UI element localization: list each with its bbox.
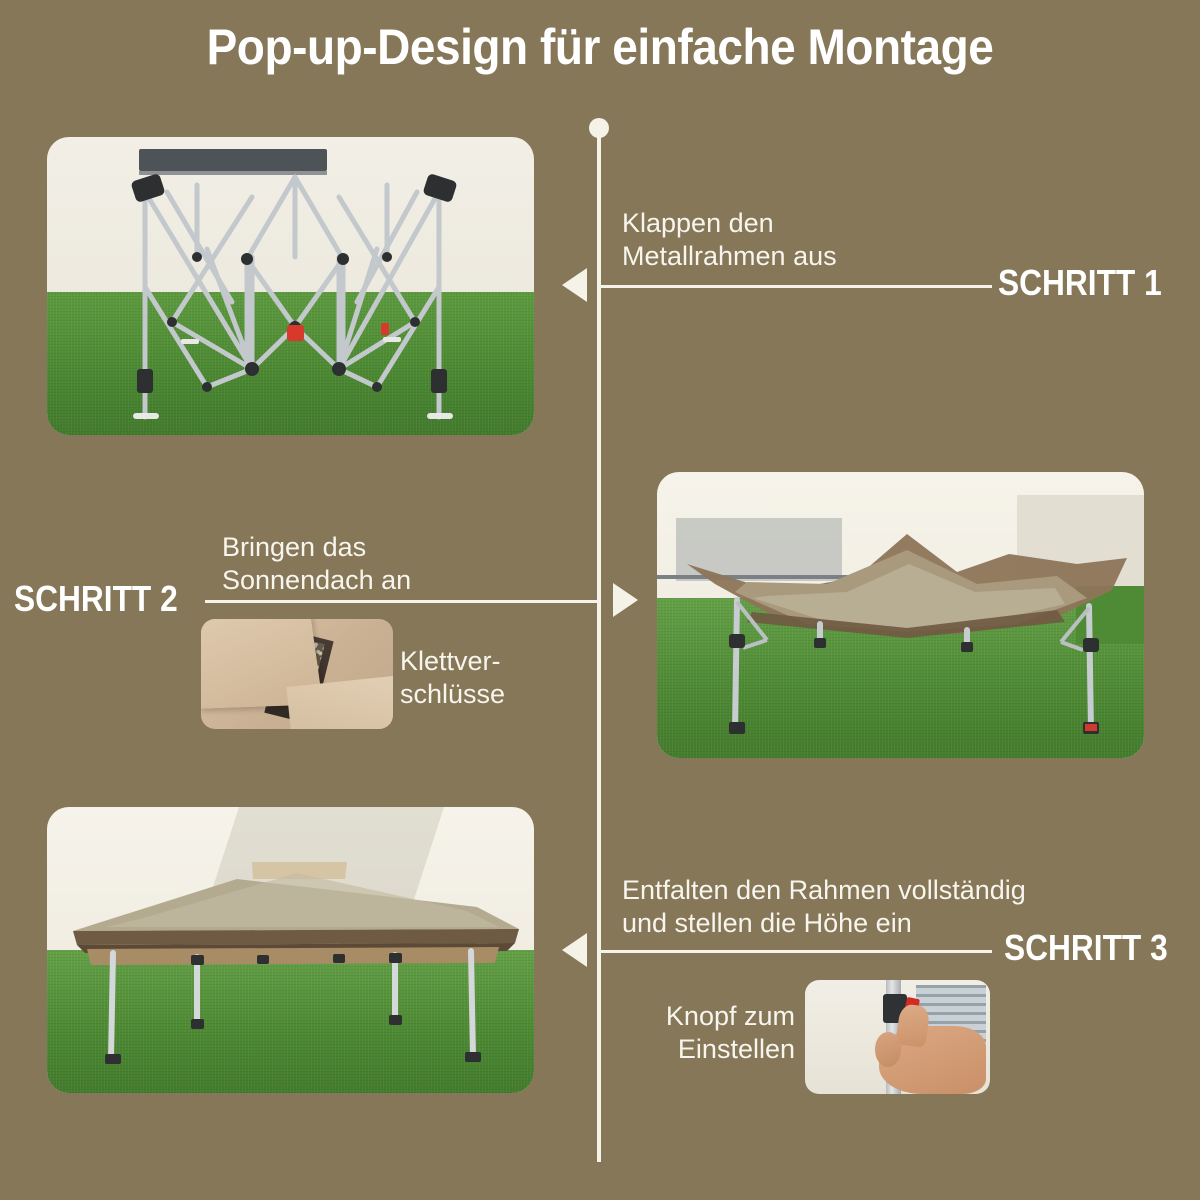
- velcro-closeup-photo: [201, 619, 393, 729]
- button-callout-label: Knopf zum Einstellen: [650, 1000, 795, 1066]
- step-3-label: SCHRITT 3: [1004, 927, 1168, 969]
- adjustment-button-closeup-photo: [805, 980, 990, 1094]
- step-2-description: Bringen das Sonnendach an: [222, 531, 411, 597]
- step-2-photo: [657, 472, 1144, 758]
- folded-frame-illustration: [47, 137, 534, 435]
- step-1-photo: [47, 137, 534, 435]
- arrow-right-icon: [613, 583, 638, 617]
- assembled-gazebo-illustration: [47, 807, 534, 1093]
- step-1-connector-line: [600, 285, 992, 288]
- step-1-description: Klappen den Metallrahmen aus: [622, 207, 837, 273]
- page-title: Pop-up-Design für einfache Montage: [48, 18, 1152, 76]
- step-3-description: Entfalten den Rahmen vollständig und ste…: [622, 874, 1026, 940]
- thumb: [875, 1032, 901, 1066]
- arrow-left-icon: [562, 933, 587, 967]
- velcro-callout-label: Klettver- schlüsse: [400, 645, 505, 711]
- step-3-connector-line: [600, 950, 992, 953]
- step-2-connector-line: [205, 600, 599, 603]
- step-3-photo: [47, 807, 534, 1093]
- step-2-label: SCHRITT 2: [14, 578, 178, 620]
- arrow-left-icon: [562, 268, 587, 302]
- step-1-label: SCHRITT 1: [998, 262, 1162, 304]
- draped-canopy-illustration: [657, 472, 1144, 758]
- timeline-vertical-line: [597, 126, 601, 1162]
